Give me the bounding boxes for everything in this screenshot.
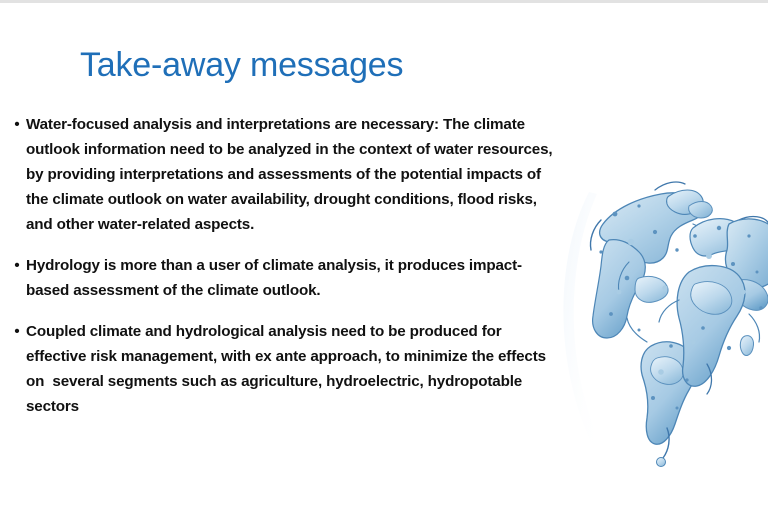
page-title: Take-away messages [80,46,403,85]
top-edge-strip [0,0,768,3]
bullet-list: • Water-focused analysis and interpretat… [8,112,556,419]
water-splash-world-map-image [543,132,768,472]
list-item: • Water-focused analysis and interpretat… [8,112,556,237]
bullet-text: Water-focused analysis and interpretatio… [26,112,556,237]
bullet-text: Coupled climate and hydrological analysi… [26,319,556,419]
list-item: • Coupled climate and hydrological analy… [8,319,556,419]
list-item: • Hydrology is more than a user of clima… [8,253,556,303]
bullet-text: Hydrology is more than a user of climate… [26,253,556,303]
bullet-point-icon: • [8,253,26,278]
bullet-point-icon: • [8,319,26,344]
presentation-slide: Take-away messages • Water-focused analy… [0,0,768,512]
bullet-point-icon: • [8,112,26,137]
